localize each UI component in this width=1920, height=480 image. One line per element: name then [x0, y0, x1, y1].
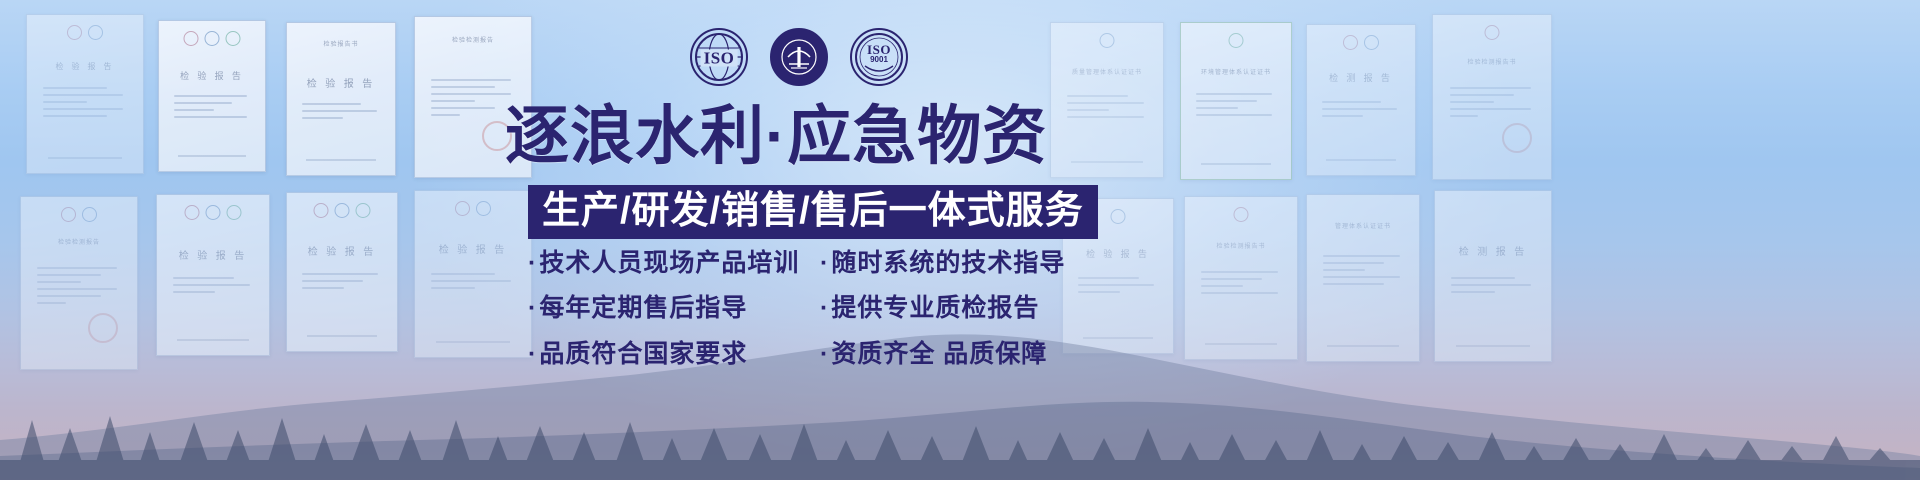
bullet-dot: · [528, 249, 537, 277]
certificate-seal-group [1229, 33, 1244, 48]
certificate-title: 检验检测报告书 [1185, 241, 1297, 250]
certificate-seal-group [1234, 207, 1249, 222]
certificate-seal-group [314, 203, 371, 218]
certificate-card: 检 测 报 告 [1306, 24, 1416, 176]
certificate-title: 检 验 报 告 [157, 247, 269, 262]
certificate-stamp [1502, 123, 1532, 153]
certificate-seal-group [67, 25, 103, 40]
certificate-title: 检 验 报 告 [1063, 247, 1173, 260]
bullet-dot: · [820, 249, 829, 277]
bullet-dot: · [820, 340, 829, 368]
feature-item: ·品质符合国家要求 [528, 339, 798, 370]
certificate-text-lines [1450, 87, 1535, 122]
certificate-seal-group [184, 31, 241, 46]
certificate-title: 检验检测报告 [415, 35, 531, 44]
iso-badge: ISO [690, 28, 748, 86]
certificate-footer-line [1326, 159, 1395, 161]
certificate-card: 检验检测报告书 [1432, 14, 1552, 180]
certificate-title: 管理体系认证证书 [1307, 221, 1419, 230]
certification-badges: ISO ISO 9001 [690, 28, 908, 86]
certificate-title: 检 验 报 告 [287, 243, 397, 258]
certificate-footer-line [1071, 161, 1143, 163]
feature-label: 随时系统的技术指导 [831, 249, 1065, 277]
certificate-title: 检 验 报 告 [415, 241, 531, 256]
certificate-card: 环境管理体系认证证书 [1180, 22, 1292, 180]
certificate-seal-group [1485, 25, 1500, 40]
certificate-footer-line [1201, 163, 1271, 165]
certificate-title: 检 验 报 告 [27, 61, 143, 72]
certificate-title: 检 测 报 告 [1307, 71, 1415, 84]
iso-badge-label: ISO [701, 50, 738, 67]
certificate-footer-line [306, 159, 375, 161]
bullet-dot: · [528, 340, 537, 368]
feature-label: 品质符合国家要求 [539, 340, 747, 368]
feature-label: 资质齐全 品质保障 [831, 340, 1047, 368]
certificate-title: 检验检测报告 [21, 237, 137, 246]
feature-item: ·每年定期售后指导 [528, 293, 798, 324]
iso-9001-badge: ISO 9001 [850, 28, 908, 86]
certificate-text-lines [43, 87, 127, 122]
certificate-title: 检验报告书 [287, 39, 395, 48]
certificate-seal-group [1343, 35, 1379, 50]
quality-seal-badge [770, 28, 828, 86]
feature-item: ·随时系统的技术指导 [820, 248, 1065, 279]
certificate-text-lines [174, 95, 250, 123]
certificate-seal-group [1111, 209, 1126, 224]
certificate-text-lines [1067, 95, 1148, 123]
feature-label: 技术人员现场产品培训 [539, 249, 799, 277]
bullet-dot: · [820, 294, 829, 322]
certificate-card: 检 验 报 告 [26, 14, 144, 174]
feature-item: ·资质齐全 品质保障 [820, 339, 1065, 370]
certificate-card: 质量管理体系认证证书 [1050, 22, 1164, 178]
certificate-seal-group [61, 207, 97, 222]
iso-9001-sub: 9001 [867, 56, 891, 65]
feature-label: 每年定期售后指导 [539, 294, 747, 322]
promo-banner: 检 验 报 告 检 验 报 告 检验报告书 检 验 报 告 检验检测报告 [0, 0, 1920, 480]
feature-item: ·技术人员现场产品培训 [528, 248, 798, 279]
certificate-title: 检 测 报 告 [1435, 243, 1551, 258]
feature-label: 提供专业质检报告 [831, 294, 1039, 322]
feature-list: ·技术人员现场产品培训 ·随时系统的技术指导 ·每年定期售后指导 ·提供专业质检… [528, 248, 1065, 370]
certificate-title: 检验检测报告书 [1433, 57, 1551, 66]
certificate-card: 检 验 报 告 [158, 20, 266, 172]
certificate-seal-group [185, 205, 242, 220]
certificate-title: 环境管理体系认证证书 [1181, 67, 1291, 76]
certificate-text-lines [1196, 93, 1275, 121]
certificate-text-lines [431, 79, 515, 121]
certificate-seal-group [455, 201, 491, 216]
subtitle-band: 生产/研发/销售/售后一体式服务 [528, 185, 1098, 239]
certificate-title: 检 验 报 告 [287, 75, 395, 90]
certificate-title: 检 验 报 告 [159, 69, 265, 82]
certificate-footer-line [178, 155, 246, 157]
quality-seal-icon [776, 34, 822, 80]
certificate-text-lines [1322, 101, 1400, 122]
iso-9001-text: ISO 9001 [867, 43, 891, 65]
certificate-text-lines [1323, 255, 1404, 290]
bullet-dot: · [528, 294, 537, 322]
certificate-card: 检验报告书 检 验 报 告 [286, 22, 396, 176]
page-title: 逐浪水利·应急物资 [505, 104, 1047, 168]
feature-item: ·提供专业质检报告 [820, 293, 1065, 324]
certificate-seal-group [1100, 33, 1115, 48]
certificate-title: 质量管理体系认证证书 [1051, 67, 1163, 76]
certificate-text-lines [302, 103, 380, 124]
certificate-footer-line [48, 157, 122, 159]
